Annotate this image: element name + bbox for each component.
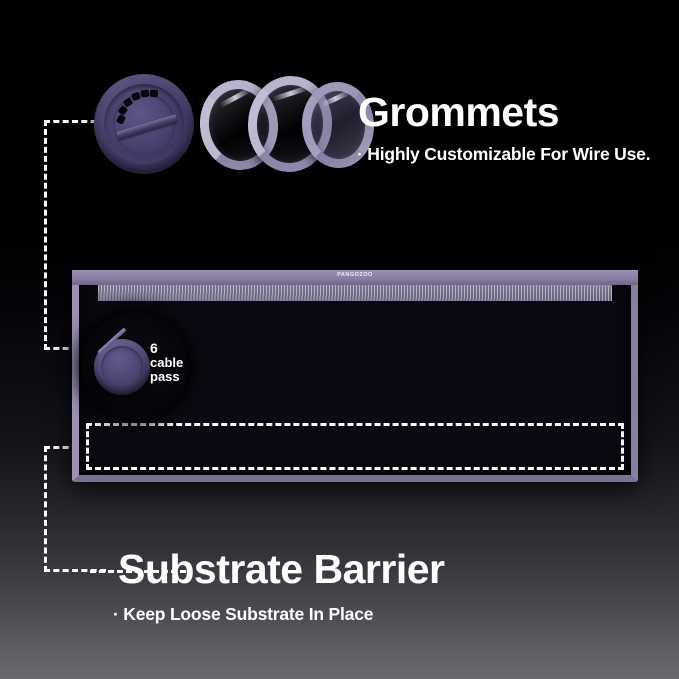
badge-label-line1: cable: [150, 356, 183, 370]
grommets-subtitle: · Highly Customizable For Wire Use.: [357, 144, 650, 165]
infographic-canvas: Grommets · Highly Customizable For Wire …: [0, 0, 679, 679]
grommet-illustration-group: [90, 68, 350, 178]
substrate-title: Substrate Barrier: [118, 546, 444, 592]
grommet-notch-icon: [150, 90, 158, 98]
grommet-notch-icon: [141, 89, 150, 97]
badge-text-group: 6 cable pass: [150, 341, 183, 384]
cable-pass-badge: 6 cable pass: [82, 313, 188, 419]
badge-label-line2: pass: [150, 370, 183, 384]
badge-count: 6: [150, 341, 183, 356]
grommet-cap-disc-icon: [94, 74, 194, 174]
substrate-subtitle: · Keep Loose Substrate In Place: [113, 604, 373, 625]
brand-logo: PANGOZOO: [337, 272, 373, 278]
grommet-notch-icon: [131, 92, 141, 101]
terrarium-screen-mesh: [98, 285, 612, 301]
terrarium-top-rail: PANGOZOO: [72, 270, 638, 285]
grommet-notch-icon: [116, 114, 126, 124]
grommets-title: Grommets: [358, 89, 559, 135]
